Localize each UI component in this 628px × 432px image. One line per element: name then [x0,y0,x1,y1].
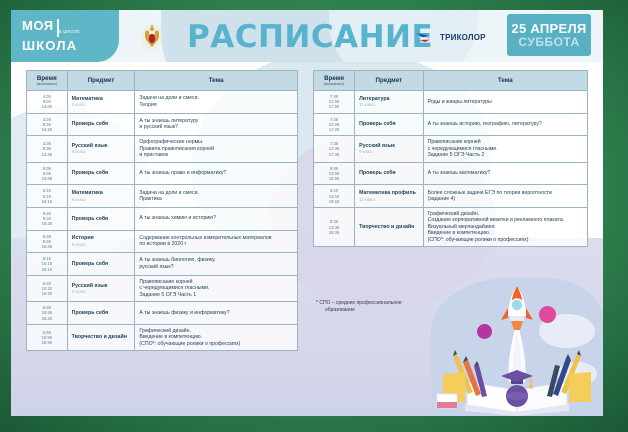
column-header-topic: Тема [423,71,587,91]
table-row: 5:159:1515:15Математика9 классЗадачи на … [27,185,298,208]
cell-topic: Содержание контрольных измерительных мат… [135,230,298,253]
cell-subject: Творчество и дизайн [67,324,135,351]
logo-top-row: МОЯ В ШКОЛЕ [22,20,119,38]
logo-text-vshkole: В ШКОЛЕ [59,29,81,34]
time-value: 18:35 [329,230,339,235]
time-value: 18:05 [329,176,339,181]
time-value: 14:00 [42,104,52,109]
subject-name: Проверь себя [359,170,396,176]
topic-line: А ты знаешь химию и историю? [139,215,293,222]
subject-grade: 9 класс [359,149,419,154]
cell-subject: Проверь себя [67,302,135,325]
cell-topic: А ты знаешь физику и информатику? [135,302,298,325]
topic-line: и приставок [139,152,293,159]
cell-subject: Проверь себя [67,113,135,136]
pencils-right [547,350,591,402]
cell-time: 6:5510:5516:55 [27,324,68,351]
topic-line: (СПО*: обучающие ролики о профессиях) [428,237,583,244]
topic-line: Задание 5 ОГЭ Часть 1 [139,292,293,299]
slide-header: МОЯ В ШКОЛЕ ШКОЛА [11,10,603,62]
table-row: 7:3512:3517:35Русский язык9 классПравопи… [314,136,588,163]
time-value: 16:55 [42,340,52,345]
table-row: 8:3513:3518:35Творчество и дизайнГрафиче… [314,207,588,247]
topic-line: Задание 5 ОГЭ Часть 2 [428,152,583,159]
column-header-subject: Предмет [355,71,424,91]
cell-subject: Литература11 класс [355,91,424,114]
cell-time: 7:0012:0017:00 [314,91,355,114]
topic-line: Создание корпоративной визитки и рекламн… [428,217,583,224]
table-row: 7:2512:2517:25Проверь себяА ты знаешь ис… [314,113,588,136]
column-header-time: Время (московское) [27,71,68,91]
subject-grade: 11 класс [359,197,419,202]
table-row: 8:1013:1018:10Математика профиль11 класс… [314,185,588,208]
cell-topic: Задачи на доли и смеси.Теория [135,91,298,114]
topic-line: Роды и жанры литературы [428,99,583,106]
topic-line: А ты знаешь право и информатику? [139,170,293,177]
date-weekday: СУББОТА [518,36,579,49]
table-row: 4:008:0014:00Математика9 классЗадачи на … [27,91,298,114]
cell-time: 5:059:0515:05 [27,162,68,185]
table-row: 5:409:4015:40Проверь себяА ты знаешь хим… [27,207,298,230]
schedule-table-left: Время (московское) Предмет Тема 4:008:00… [26,70,298,351]
cell-topic: А ты знаешь математику? [423,162,587,185]
cell-topic: А ты знаешь право и информатику? [135,162,298,185]
table-row: 4:358:3514:35Русский язык9 классОрфограф… [27,136,298,163]
cell-time: 8:3513:3518:35 [314,207,355,247]
schedule-table-right-body: 7:0012:0017:00Литература11 классРоды и ж… [314,91,588,247]
cell-topic: Правописание корнейс чередующимися гласн… [135,275,298,302]
column-header-time: Время (московское) [314,71,355,91]
rocket-from-book-illustration [431,278,603,416]
column-header-time-sub: (московское) [31,82,63,86]
table-row: 6:1510:1516:15Проверь себяА ты знаешь би… [27,253,298,276]
table-row: 8:0513:0518:05Проверь себяА ты знаешь ма… [314,162,588,185]
date-day: 25 АПРЕЛЯ [511,22,586,36]
time-value: 16:45 [42,316,52,321]
cell-subject: Русский язык9 класс [355,136,424,163]
logo-text-moya: МОЯ [22,20,54,32]
cell-subject: Проверь себя [67,207,135,230]
time-value: 15:05 [42,176,52,181]
topic-line: по истории в 2020 г [139,241,293,248]
subject-name: Проверь себя [72,121,109,127]
schedule-slide: МОЯ В ШКОЛЕ ШКОЛА [11,10,603,416]
time-value: 15:40 [42,221,52,226]
footnote-line-1: * СПО – среднее профессиональное [316,300,402,306]
russian-coat-of-arms-icon [139,23,165,51]
time-value: 17:35 [329,152,339,157]
cell-topic: А ты знаешь литературуи русский язык? [135,113,298,136]
tricolor-partner-logo: ТРИКОЛОР [415,30,486,45]
subject-name: История [72,235,94,241]
subject-grade: 9 класс [72,102,131,107]
cell-time: 4:358:3514:35 [27,136,68,163]
topic-line: (задание 4) [428,196,583,203]
subject-name: Творчество и дизайн [359,224,414,230]
cell-time: 4:258:2514:25 [27,113,68,136]
subject-name: Проверь себя [72,216,109,222]
cell-topic: Роды и жанры литературы [423,91,587,114]
table-row: 5:459:4515:45История9 классСодержание ко… [27,230,298,253]
column-header-time-label: Время [324,75,344,82]
table-header-row: Время (московское) Предмет Тема [27,71,298,91]
moya-shkola-logo: МОЯ В ШКОЛЕ ШКОЛА [11,10,119,62]
subject-grade: 11 класс [359,102,419,107]
time-value: 18:10 [329,199,339,204]
subject-name: Проверь себя [72,261,109,267]
cell-time: 5:159:1515:15 [27,185,68,208]
topic-line: А ты знаешь математику? [428,170,583,177]
subject-name: Математика [72,96,103,102]
rocket-icon [501,286,533,330]
time-value: 16:15 [42,267,52,272]
illustration-vector [431,278,603,416]
subject-grade: 9 класс [72,289,131,294]
column-header-topic: Тема [135,71,298,91]
column-header-subject: Предмет [67,71,135,91]
cell-topic: А ты знаешь историю, географию, литерату… [423,113,587,136]
topic-line: и русский язык? [139,124,293,131]
cell-time: 6:2010:2016:20 [27,275,68,302]
time-value: 16:20 [42,291,52,296]
cell-topic: А ты знаешь биологию, физику,русский язы… [135,253,298,276]
cell-time: 8:1013:1018:10 [314,185,355,208]
cell-subject: История9 класс [67,230,135,253]
time-value: 17:00 [329,104,339,109]
cell-topic: Графический дизайн.Введение в компетенци… [135,324,298,351]
cell-subject: Русский язык9 класс [67,136,135,163]
topic-line: Практика [139,196,293,203]
date-badge: 25 АПРЕЛЯ СУББОТА [507,14,591,56]
table-header-row: Время (московское) Предмет Тема [314,71,588,91]
subject-name: Проверь себя [359,121,396,127]
cell-time: 7:3512:3517:35 [314,136,355,163]
cell-time: 6:4510:4516:45 [27,302,68,325]
subject-grade: 9 класс [72,149,131,154]
subject-name: Проверь себя [72,310,109,316]
subject-name: Русский язык [72,143,108,149]
topic-line: русский язык? [139,264,293,271]
cell-subject: Проверь себя [67,162,135,185]
column-header-time-label: Время [37,75,57,82]
cell-topic: Графический дизайн.Создание корпоративно… [423,207,587,247]
subject-name: Творчество и дизайн [72,334,127,340]
subject-name: Математика [72,190,103,196]
schedule-table-left-grid: Время (московское) Предмет Тема 4:008:00… [26,70,298,351]
topic-line: А ты знаешь историю, географию, литерату… [428,121,583,128]
time-value: 15:15 [42,199,52,204]
topic-line: Теория [139,102,293,109]
cell-subject: Математика9 класс [67,185,135,208]
time-value: 15:45 [42,244,52,249]
cell-subject: Творчество и дизайн [355,207,424,247]
cell-time: 5:459:4515:45 [27,230,68,253]
tricolor-wordmark: ТРИКОЛОР [440,33,486,42]
subject-name: Русский язык [359,143,395,149]
time-value: 14:25 [42,127,52,132]
schedule-table-left-body: 4:008:0014:00Математика9 классЗадачи на … [27,91,298,351]
column-header-time-sub: (московское) [318,82,350,86]
table-row: 5:059:0515:05Проверь себяА ты знаешь пра… [27,162,298,185]
logo-text-shkola: ШКОЛА [22,39,119,52]
subject-name: Русский язык [72,283,108,289]
subject-name: Литература [359,96,389,102]
logo-wifi-mark: В ШКОЛЕ [57,20,81,38]
subject-grade: 9 класс [72,197,131,202]
cell-subject: Математика профиль11 класс [355,185,424,208]
page-title: РАСПИСАНИЕ [187,20,433,54]
table-row: 6:2010:2016:20Русский язык9 классПравопи… [27,275,298,302]
cell-time: 6:1510:1516:15 [27,253,68,276]
topic-line: (СПО*: обучающие ролики о профессиях) [139,341,293,348]
schedule-table-right: Время (московское) Предмет Тема 7:0012:0… [313,70,588,247]
subject-grade: 9 класс [72,242,131,247]
cell-topic: Задачи на доли и смеси.Практика [135,185,298,208]
table-row: 4:258:2514:25Проверь себяА ты знаешь лит… [27,113,298,136]
subject-name: Математика профиль [359,190,416,196]
cell-subject: Проверь себя [67,253,135,276]
cell-time: 8:0513:0518:05 [314,162,355,185]
cell-topic: Более сложные задачи ЕГЭ по теории вероя… [423,185,587,208]
cell-time: 5:409:4015:40 [27,207,68,230]
cell-topic: А ты знаешь химию и историю? [135,207,298,230]
cell-topic: Орфографические нормы.Правила правописан… [135,136,298,163]
time-value: 17:25 [329,127,339,132]
tricolor-bird-icon [415,30,437,45]
cell-subject: Математика9 класс [67,91,135,114]
table-row: 7:0012:0017:00Литература11 классРоды и ж… [314,91,588,114]
table-row: 6:4510:4516:45Проверь себяА ты знаешь фи… [27,302,298,325]
cell-subject: Проверь себя [355,113,424,136]
cell-subject: Проверь себя [355,162,424,185]
topic-line: А ты знаешь физику и информатику? [139,310,293,317]
cell-topic: Правописание корнейс чередующимися гласн… [423,136,587,163]
slide-frame: МОЯ В ШКОЛЕ ШКОЛА [0,0,628,432]
schedule-table-right-grid: Время (московское) Предмет Тема 7:0012:0… [313,70,588,247]
cell-time: 4:008:0014:00 [27,91,68,114]
time-value: 14:35 [42,152,52,157]
cell-subject: Русский язык9 класс [67,275,135,302]
cell-time: 7:2512:2517:25 [314,113,355,136]
subject-name: Проверь себя [72,170,109,176]
table-row: 6:5510:5516:55Творчество и дизайнГрафиче… [27,324,298,351]
